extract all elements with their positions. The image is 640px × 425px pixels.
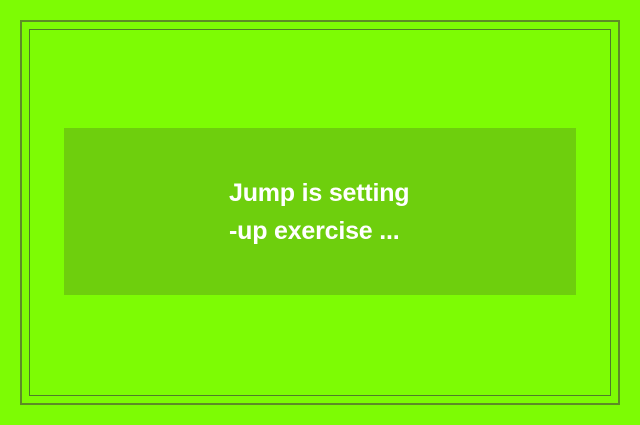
slide-canvas: Jump is setting -up exercise ...: [0, 0, 640, 425]
caption-line-1: Jump is setting: [229, 174, 409, 212]
caption-line-2: -up exercise ...: [229, 212, 400, 250]
caption-panel: Jump is setting -up exercise ...: [64, 128, 576, 295]
